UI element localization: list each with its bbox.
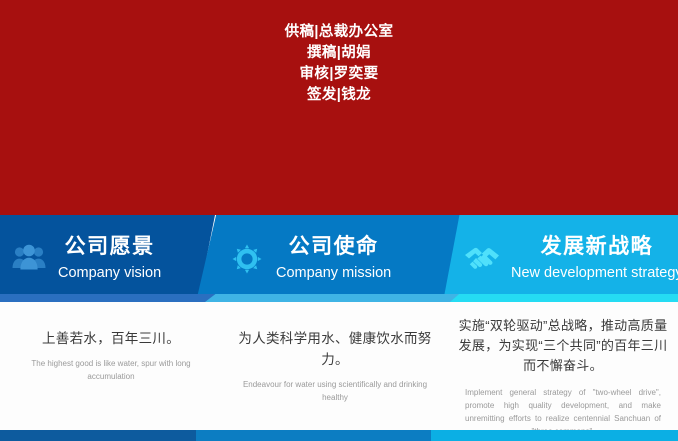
content-column-mission: 为人类科学用水、健康饮水而努力。 Endeavour for water usi…: [222, 302, 448, 422]
banner-accent-stripe-2: [205, 294, 467, 302]
credit-line-contributor: 供稿|总裁办公室: [285, 22, 394, 43]
credits-header: 供稿|总裁办公室 撰稿|胡娟 审核|罗奕要 签发|钱龙: [0, 0, 678, 215]
panel-company-vision-text: 公司愿景 Company vision: [58, 234, 161, 283]
panel-title-cn: 公司愿景: [65, 234, 155, 259]
content-text-cn: 实施“双轮驱动”总战略，推动高质量发展，为实现“三个共同”的百年三川而不懈奋斗。: [454, 316, 672, 376]
handshake-icon: [461, 238, 503, 280]
panel-title-en: New development strategy: [511, 263, 678, 283]
bottom-bar-segment-1: [0, 430, 196, 441]
content-text-cn: 为人类科学用水、健康饮水而努力。: [232, 328, 438, 370]
banner-accent-stripe-1: [0, 294, 215, 302]
content-area: 上善若水，百年三川。 The highest good is like wate…: [0, 302, 678, 422]
content-column-strategy: 实施“双轮驱动”总战略，推动高质量发展，为实现“三个共同”的百年三川而不懈奋斗。…: [448, 302, 678, 422]
panel-title-cn: 发展新战略: [541, 234, 654, 259]
content-text-en: The highest good is like water, spur wit…: [16, 358, 206, 383]
panel-title-cn: 公司使命: [289, 234, 379, 259]
slide-canvas: 供稿|总裁办公室 撰稿|胡娟 审核|罗奕要 签发|钱龙 公司愿景 Company…: [0, 0, 678, 441]
panel-company-mission-text: 公司使命 Company mission: [276, 234, 391, 283]
credit-line-reviewer: 审核|罗奕要: [300, 64, 379, 85]
gear-icon: [226, 238, 268, 280]
credit-line-writer: 撰稿|胡娟: [307, 43, 371, 64]
content-text-en: Endeavour for water using scientifically…: [240, 379, 430, 404]
panel-new-development-strategy[interactable]: 发展新战略 New development strategy: [443, 215, 678, 302]
content-column-vision: 上善若水，百年三川。 The highest good is like wate…: [0, 302, 222, 422]
people-group-icon: [8, 238, 50, 280]
panel-new-development-strategy-text: 发展新战略 New development strategy: [511, 234, 678, 283]
content-text-cn: 上善若水，百年三川。: [42, 328, 180, 349]
bottom-bar-segment-2: [196, 430, 431, 441]
panel-company-mission[interactable]: 公司使命 Company mission: [196, 215, 464, 302]
banner-accent-stripe-3: [450, 294, 678, 302]
panel-title-en: Company vision: [58, 263, 161, 283]
panel-title-en: Company mission: [276, 263, 391, 283]
panel-company-vision[interactable]: 公司愿景 Company vision: [0, 215, 215, 302]
credit-line-approver: 签发|钱龙: [307, 85, 371, 106]
bottom-bar: [0, 430, 678, 441]
bottom-bar-segment-3: [431, 430, 678, 441]
banner: 公司愿景 Company vision: [0, 215, 678, 302]
